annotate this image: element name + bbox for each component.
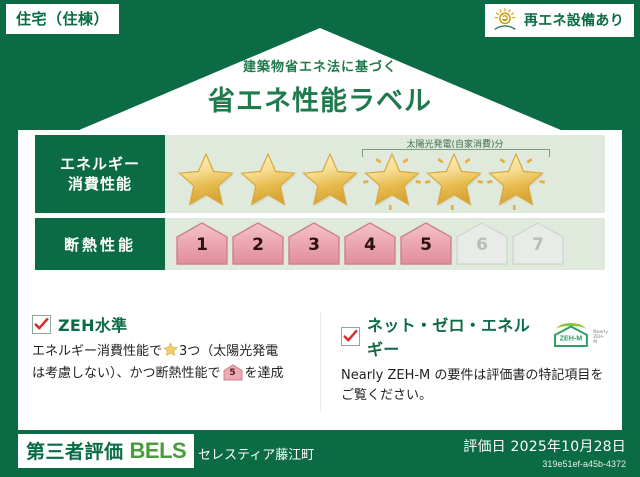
evaluation-meta: 評価日 2025年10月28日 319e51ef-a45b-4372 [463, 436, 626, 469]
energy-label-line1: エネルギー [60, 154, 140, 174]
evaluation-id: 319e51ef-a45b-4372 [463, 459, 626, 469]
check-icon [32, 315, 51, 334]
insulation-grade-house: 7 [511, 221, 565, 267]
insulation-grade-number: 2 [231, 235, 285, 255]
insulation-grade-number: 7 [511, 235, 565, 255]
footer-bar: 第三者評価 BELS セレスティア藤江町 評価日 2025年10月28日 319… [0, 430, 640, 477]
zeh-description: エネルギー消費性能で3つ（太陽光発電 は考慮しない）、かつ断熱性能で5を達成 [32, 342, 306, 384]
performance-rows: エネルギー 消費性能 太陽光発電(自家消費)分 [35, 135, 605, 275]
zeh-text-b: 3つ（太陽光発電 [179, 344, 278, 359]
insulation-grade-house: 1 [175, 221, 229, 267]
label-title-block: 建築物省エネ法に基づく 省エネ性能ラベル [0, 56, 640, 118]
bels-jp-label: 第三者評価 [26, 437, 124, 464]
check-icon [341, 327, 360, 346]
star-icon [299, 150, 361, 212]
zeh-m-logo-subtext: Nearly ZEH-M [593, 331, 608, 349]
insulation-grade-house: 6 [455, 221, 509, 267]
inline-house-icon: 5 [223, 364, 243, 381]
insulation-performance-label: 断熱性能 [35, 218, 165, 270]
netzero-title: ネット・ゼロ・エネルギー [367, 312, 538, 360]
insulation-performance-row: 断熱性能 1 [35, 218, 605, 270]
insulation-grade-house: 3 [287, 221, 341, 267]
title-subtitle: 建築物省エネ法に基づく [0, 56, 640, 75]
zeh-title: ZEH水準 [58, 312, 127, 336]
solar-sun-icon [492, 7, 518, 33]
netzero-description: Nearly ZEH-M の要件は評価書の特記項目をご覧ください。 [341, 366, 608, 406]
bels-badge: 第三者評価 BELS [18, 434, 194, 468]
criteria-section: ZEH水準 エネルギー消費性能で3つ（太陽光発電 は考慮しない）、かつ断熱性能で… [18, 312, 622, 412]
evaluation-date: 評価日 2025年10月28日 [463, 436, 626, 456]
insulation-grade-number: 4 [343, 235, 397, 255]
energy-label-line2: 消費性能 [68, 174, 132, 194]
zeh-text-a: エネルギー消費性能で [32, 344, 162, 359]
renewable-energy-label: 再エネ設備あり [524, 10, 624, 30]
building-type-tag: 住宅（住棟） [6, 4, 119, 34]
insulation-grade-number: 3 [287, 235, 341, 255]
insulation-grade-number: 1 [175, 235, 229, 255]
energy-performance-label: エネルギー 消費性能 [35, 135, 165, 213]
label-root: 住宅（住棟） 再エネ設備あり 建築物省エネ法に基づく [0, 0, 640, 477]
zeh-text-d: を達成 [245, 366, 284, 381]
zeh-heading: ZEH水準 [32, 312, 306, 336]
insulation-grade-house: 4 [343, 221, 397, 267]
inline-house-number: 5 [223, 367, 243, 381]
insulation-grade-house: 5 [399, 221, 453, 267]
energy-performance-body: 太陽光発電(自家消費)分 [165, 135, 605, 213]
zeh-m-logo: ZEH-M Nearly ZEH-M [551, 323, 608, 349]
zeh-text-c: は考慮しない）、かつ断熱性能で [32, 366, 221, 381]
building-name: セレスティア藤江町 [198, 444, 314, 463]
page-title: 省エネ性能ラベル [0, 79, 640, 118]
star-icon [175, 150, 237, 212]
energy-star-rating [165, 149, 605, 213]
insulation-grade-number: 5 [399, 235, 453, 255]
star-icon-solar [361, 150, 423, 212]
netzero-criteria-block: ネット・ゼロ・エネルギー ZEH-M Nearly ZEH-M Nearly Z… [320, 312, 622, 412]
bels-en-label: BELS [130, 438, 187, 464]
insulation-grade-house: 2 [231, 221, 285, 267]
star-icon-solar [485, 150, 547, 212]
insulation-grade-number: 6 [455, 235, 509, 255]
insulation-grade-scale: 1 2 [165, 218, 605, 270]
energy-performance-row: エネルギー 消費性能 太陽光発電(自家消費)分 [35, 135, 605, 213]
building-type-label: 住宅（住棟） [16, 8, 109, 29]
svg-text:ZEH-M: ZEH-M [560, 335, 583, 343]
netzero-heading: ネット・ゼロ・エネルギー ZEH-M Nearly ZEH-M [341, 312, 608, 360]
renewable-energy-tag: 再エネ設備あり [485, 4, 634, 37]
zeh-criteria-block: ZEH水準 エネルギー消費性能で3つ（太陽光発電 は考慮しない）、かつ断熱性能で… [18, 312, 320, 412]
insulation-performance-body: 1 2 [165, 218, 605, 270]
inline-star-icon [163, 342, 178, 364]
star-icon [237, 150, 299, 212]
star-icon-solar [423, 150, 485, 212]
